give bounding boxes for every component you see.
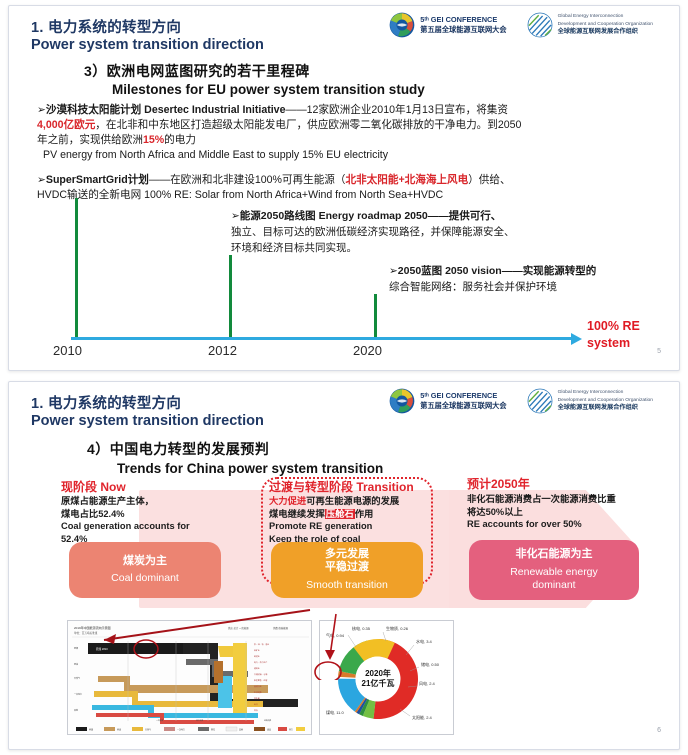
header-logos-2: 5ᵗʰ GEI CONFERENCE 第五届全球能源互联网大会 Global E… [389,388,653,414]
logo1-line2-2: 第五届全球能源互联网大会 [420,401,506,410]
timeline-year-2012: 2012 [208,343,237,358]
chip-renewable-en: Renewable energy dominant [510,566,598,592]
timeline-end-line1: 100% RE [587,318,640,335]
logo1-line2: 第五届全球能源互联网大会 [420,25,506,34]
ssg-line1b: ——在欧洲和北非建设100%可再生能源（ [149,174,346,186]
bullet-roadmap2050: ➢能源2050路线图 Energy roadmap 2050——提供可行、 独立… [231,209,561,256]
logo2-line2-2: Development and Cooperation Organization [558,397,653,404]
geidco-logo-2: Global Energy Interconnection Developmen… [527,388,653,414]
gei-conference-text: 5ᵗʰ GEI CONFERENCE 第五届全球能源互联网大会 [420,15,506,35]
now-line-2: 煤电占比52.4% [61,508,256,521]
logo1-line1-2: 5ᵗʰ GEI CONFERENCE [420,391,497,400]
transition-hl-1: 大力促进 [269,496,306,506]
section-title-en-2: Trends for China power system transition [117,461,383,476]
chip-renewable-dominant[interactable]: 非化石能源为主 Renewable energy dominant [469,540,639,600]
column-head-now: 现阶段 Now [61,478,126,495]
column-head-2050: 预计2050年 [467,475,530,492]
ssg-sources: 北非太阳能+北海海上风电 [346,174,469,186]
pie-label-coal: 煤电, 11.0 [326,709,344,715]
slide-1: 1. 电力系统的转型方向 Power system transition dir… [8,5,680,371]
vision-line2: 综合智能网络：服务社会并保护环境 [389,280,659,296]
pie-label-storage: 储电, 0.50 [421,661,440,667]
chip-transition-cn-1: 多元发展 [325,548,369,560]
chip-coal-cn: 煤炭为主 [123,555,167,569]
y2050-line-1: 非化石能源消费占一次能源消费比重 [467,493,667,506]
sankey-callout-arrow [64,608,354,668]
desertec-amount: 4,000亿欧元 [37,119,95,131]
desertec-line3b: 的电力 [164,134,196,146]
timeline-year-2020: 2020 [353,343,382,358]
timeline-year-2010: 2010 [53,343,82,358]
transition-line-3: Promote RE generation [269,520,434,533]
chip-renewable-cn: 非化石能源为主 [516,548,593,562]
header-logos: 5ᵗʰ GEI CONFERENCE 第五届全球能源互联网大会 Global E… [389,12,653,38]
geidco-globe-icon-2 [527,388,553,414]
gei-conference-text-2: 5ᵗʰ GEI CONFERENCE 第五届全球能源互联网大会 [420,391,506,411]
bullet-supersmartgrid: ➢SuperSmartGrid计划——在欧洲和北非建设100%可再生能源（北非太… [37,173,667,203]
ssg-title: ➢SuperSmartGrid计划 [37,174,149,186]
timeline-end-label: 100% RE system [587,318,640,352]
section-title-en-1: Milestones for EU power system transitio… [112,82,425,97]
transition-line-1: 大力促进可再生能源电源的发展 [269,495,434,508]
gei-globe-icon-2 [389,388,415,414]
roadmap-line2: 独立、目标可达的欧洲低碳经济实现路径，并保障能源安全、 [231,225,561,241]
timeline-end-line2: system [587,335,640,352]
timeline-axis [71,337,573,340]
logo2-line3-2: 全球能源互联网发展合作组织 [558,404,653,413]
geidco-logo: Global Energy Interconnection Developmen… [527,12,653,38]
roadmap-line3: 环境和经济目标共同实现。 [231,241,561,257]
timeline-stem-2012 [229,255,232,338]
chip-transition-cn: 多元发展 平稳过渡 [325,548,369,576]
transition-line-2: 煤电继续发挥压舱石作用 [269,508,434,521]
y2050-line-2: 将达50%以上 [467,506,667,519]
transition-hl-2: 压舱石 [325,509,355,519]
logo1-line1: 5ᵗʰ GEI CONFERENCE [420,15,497,24]
section-title-cn-2: 4）中国电力转型的发展预判 [87,439,269,459]
slide-2-page-number: 6 [657,727,661,734]
column-body-now: 原煤占能源生产主体， 煤电占比52.4% Coal generation acc… [61,495,256,546]
chip-smooth-transition[interactable]: 多元发展 平稳过渡 Smooth transition [271,542,423,598]
gei-conference-logo-2: 5ᵗʰ GEI CONFERENCE 第五届全球能源互联网大会 [389,388,506,414]
timeline-stem-2010 [75,198,78,338]
desertec-title: ➢沙漠科技太阳能计划 Desertec Industrial Initiativ… [37,104,285,116]
y2050-line-3: RE accounts for over 50% [467,518,667,531]
pie-callout-arrow [314,610,394,680]
page-title-cn: 1. 电力系统的转型方向 [31,16,181,37]
bullet-vision2050: ➢2050蓝图 2050 vision——实现能源转型的 综合智能网络：服务社会… [389,264,659,296]
page-title-en-2: Power system transition direction [31,413,264,429]
page-title-en: Power system transition direction [31,37,264,53]
logo2-line1-2: Global Energy Interconnection [558,389,653,396]
pie-label-wind: 风电, 2.4 [419,680,436,686]
gei-conference-logo: 5ᵗʰ GEI CONFERENCE 第五届全球能源互联网大会 [389,12,506,38]
geidco-text: Global Energy Interconnection Developmen… [558,13,653,36]
logo2-line2: Development and Cooperation Organization [558,21,653,28]
timeline-arrow-head [571,333,582,345]
chip-coal-en: Coal dominant [111,572,179,585]
desertec-line2b: ，在北非和中东地区打造超级太阳能发电厂，供应欧洲零二氧化碳排放的干净电力。到20… [95,119,521,131]
geidco-globe-icon [527,12,553,38]
slide-2: 1. 电力系统的转型方向 Power system transition dir… [8,381,680,750]
chip-renewable-en-1: Renewable energy [510,566,598,578]
chip-transition-cn-2: 平稳过渡 [325,561,369,573]
pie-label-solar: 太阳能, 2.4 [412,714,433,720]
column-body-2050: 非化石能源消费占一次能源消费比重 将达50%以上 RE accounts for… [467,493,667,531]
section-title-cn-1: 3）欧洲电网蓝图研究的若干里程碑 [84,61,310,81]
chip-transition-en: Smooth transition [306,579,388,592]
now-line-3: Coal generation accounts for [61,520,256,533]
desertec-line1b: ——12家欧洲企业2010年1月13日宣布，将集资 [285,104,508,116]
logo2-line1: Global Energy Interconnection [558,13,653,20]
ssg-line1c: ）供给、 [468,174,510,186]
timeline-stem-2020 [374,294,377,338]
column-head-transition: 过渡与转型阶段 Transition [269,478,414,495]
geidco-text-2: Global Energy Interconnection Developmen… [558,389,653,412]
now-line-1: 原煤占能源生产主体， [61,495,256,508]
desertec-pct: 15% [143,134,164,146]
pie-label-hydro: 水电, 3.4 [416,638,433,644]
logo2-line3: 全球能源互联网发展合作组织 [558,28,653,37]
slide-1-page-number: 5 [657,348,661,355]
vision-line1: ➢2050蓝图 2050 vision——实现能源转型的 [389,265,596,277]
desertec-en: PV energy from North Africa and Middle E… [37,148,657,163]
chip-coal-dominant[interactable]: 煤炭为主 Coal dominant [69,542,221,598]
ssg-line2: HVDC输送的全新电网 100% RE: Solar from North Af… [37,188,667,203]
column-body-transition: 大力促进可再生能源电源的发展 煤电继续发挥压舱石作用 Promote RE ge… [269,495,434,546]
gei-globe-icon [389,12,415,38]
bullet-desertec: ➢沙漠科技太阳能计划 Desertec Industrial Initiativ… [37,103,657,163]
desertec-line3a: 年之前，实现供给欧洲 [37,134,143,146]
chip-renewable-en-2: dominant [532,579,575,591]
page-title-cn-2: 1. 电力系统的转型方向 [31,392,181,413]
roadmap-line1: ➢能源2050路线图 Energy roadmap 2050——提供可行、 [231,210,501,222]
